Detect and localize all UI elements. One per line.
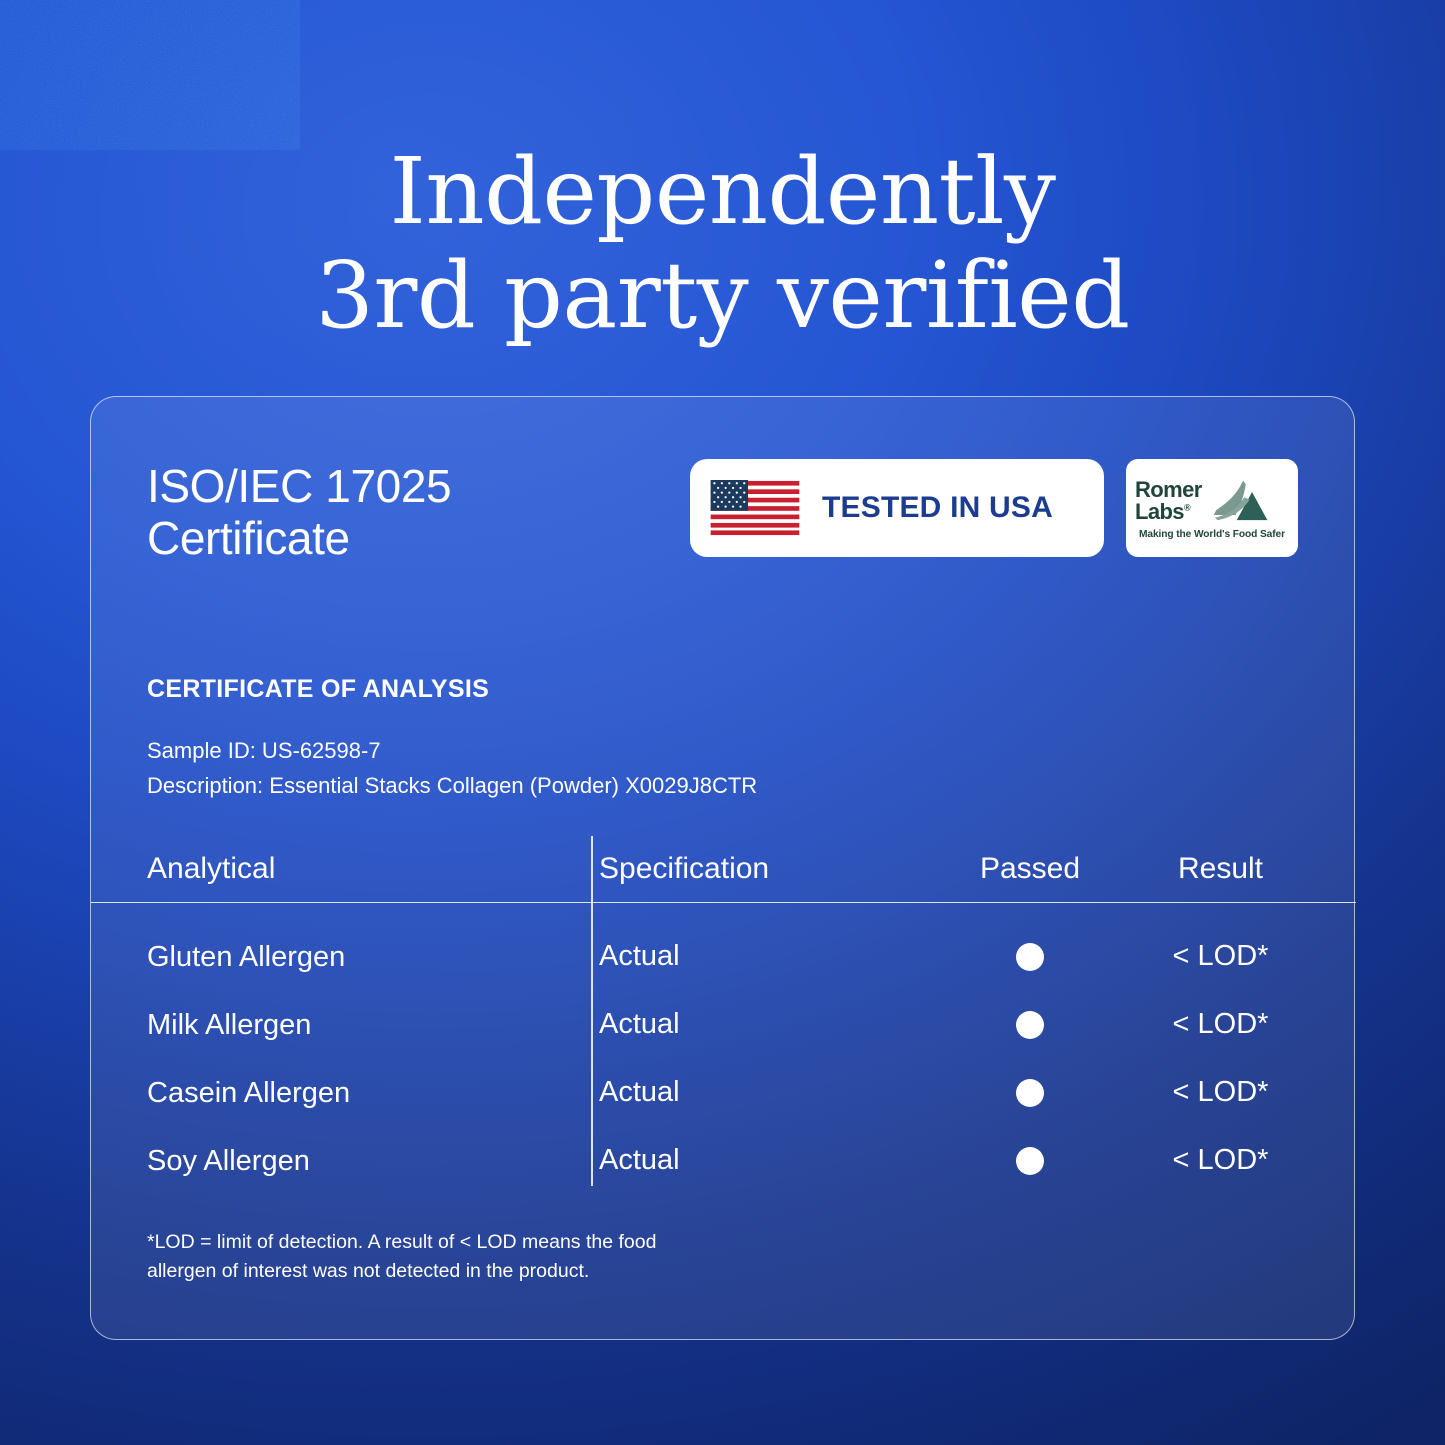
table-row: Soy Allergen Actual < LOD* [147,1126,1298,1194]
coa-sample-id: Sample ID: US-62598-7 [147,734,1298,769]
tested-in-usa-badge: TESTED IN USA [690,459,1104,557]
cell-analytical: Soy Allergen [147,1143,599,1178]
table-body: Gluten Allergen Actual < LOD* Milk Aller… [147,922,1298,1194]
cell-analytical: Gluten Allergen [147,939,599,974]
romer-labs-wordmark: Romer Labs® [1135,479,1202,522]
cell-specification: Actual [599,1144,929,1177]
cell-specification: Actual [599,1008,929,1041]
iso-title-line-2: Certificate [147,513,451,565]
iso-title-line-1: ISO/IEC 17025 [147,461,451,513]
table-header-divider [91,902,1356,904]
headline-line-1: Independently [0,140,1445,244]
analysis-table: Analytical Specification Passed Result G… [147,836,1298,1195]
badge-group: TESTED IN USA Romer Labs® [690,455,1298,557]
cell-passed [929,1076,1159,1109]
cell-specification: Actual [599,940,929,973]
romer-word-line-1: Romer [1135,479,1202,501]
cell-analytical: Milk Allergen [147,1007,599,1042]
noise-texture [0,0,300,150]
cell-passed [929,1144,1159,1177]
us-flag-icon [710,480,800,536]
coa-meta: Sample ID: US-62598-7 Description: Essen… [147,734,1298,804]
registered-trademark-icon: ® [1184,503,1190,513]
coa-description: Description: Essential Stacks Collagen (… [147,769,1298,804]
column-header-result: Result [1159,852,1298,886]
footnote-line-1: *LOD = limit of detection. A result of <… [147,1228,1298,1256]
table-vertical-divider [591,836,593,1186]
headline-line-2: 3rd party verified [0,244,1445,348]
tested-in-usa-label: TESTED IN USA [822,491,1053,525]
romer-labs-mountain-icon [1206,478,1270,524]
poster-canvas: Independently 3rd party verified ISO/IEC… [0,0,1445,1445]
passed-indicator-icon [1016,1147,1044,1175]
romer-labs-tagline: Making the World's Food Safer [1135,529,1289,540]
cell-result: < LOD* [1159,1144,1298,1177]
column-header-passed: Passed [929,852,1159,886]
cell-passed [929,940,1159,973]
cell-passed [929,1008,1159,1041]
table-row: Milk Allergen Actual < LOD* [147,990,1298,1058]
romer-word-line-2: Labs [1135,499,1184,524]
page-title: Independently 3rd party verified [0,140,1445,348]
table-row: Gluten Allergen Actual < LOD* [147,922,1298,990]
card-header: ISO/IEC 17025 Certificate [147,455,1298,595]
column-header-analytical: Analytical [147,852,599,886]
iso-certificate-title: ISO/IEC 17025 Certificate [147,455,451,564]
passed-indicator-icon [1016,1079,1044,1107]
coa-heading: CERTIFICATE OF ANALYSIS [147,675,1298,704]
certificate-card: ISO/IEC 17025 Certificate [90,396,1355,1340]
column-header-specification: Specification [599,852,929,886]
passed-indicator-icon [1016,943,1044,971]
passed-indicator-icon [1016,1011,1044,1039]
romer-labs-badge: Romer Labs® Making the World's Food Safe… [1126,459,1298,557]
cell-result: < LOD* [1159,1076,1298,1109]
cell-result: < LOD* [1159,940,1298,973]
lod-footnote: *LOD = limit of detection. A result of <… [147,1228,1298,1285]
table-row: Casein Allergen Actual < LOD* [147,1058,1298,1126]
cell-analytical: Casein Allergen [147,1075,599,1110]
table-header-row: Analytical Specification Passed Result [147,836,1298,902]
cell-result: < LOD* [1159,1008,1298,1041]
cell-specification: Actual [599,1076,929,1109]
footnote-line-2: allergen of interest was not detected in… [147,1257,1298,1285]
